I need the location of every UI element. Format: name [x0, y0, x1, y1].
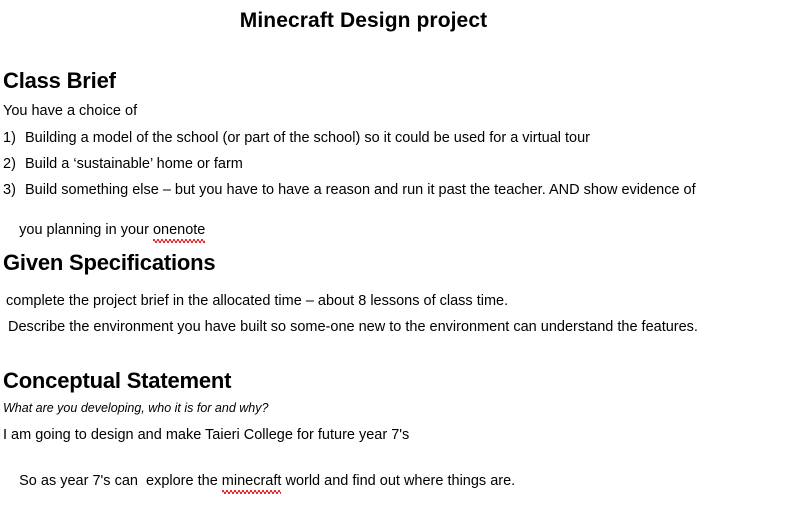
- document-title: Minecraft Design project: [0, 8, 727, 34]
- conceptual-answer-line-2: So as year 7's can explore the minecraft…: [3, 451, 515, 511]
- conceptual-answer-line-1: I am going to design and make Taieri Col…: [3, 425, 409, 445]
- list-item: 3)Build something else – but you have to…: [3, 180, 783, 200]
- conceptual-answer-line-2-prefix: So as year 7's can explore the: [19, 473, 222, 489]
- list-marker-1: 1): [3, 128, 25, 148]
- heading-class-brief: Class Brief: [3, 68, 116, 94]
- document-page: Minecraft Design project Class Brief You…: [0, 0, 796, 479]
- misspelled-word-minecraft[interactable]: minecraft: [222, 471, 282, 491]
- heading-conceptual-statement: Conceptual Statement: [3, 368, 231, 394]
- heading-given-specifications: Given Specifications: [3, 250, 215, 276]
- list-marker-2: 2): [3, 154, 25, 174]
- list-text-3-continuation: you planning in your: [19, 222, 153, 238]
- list-text-1: Building a model of the school (or part …: [25, 130, 590, 146]
- conceptual-answer-line-2-suffix: world and find out where things are.: [281, 473, 515, 489]
- misspelled-word-onenote[interactable]: onenote: [153, 220, 205, 240]
- class-brief-intro: You have a choice of: [3, 101, 137, 121]
- list-marker-3: 3): [3, 180, 25, 200]
- list-item: 1)Building a model of the school (or par…: [3, 128, 783, 148]
- specification-line-2: Describe the environment you have built …: [8, 317, 698, 337]
- list-text-2: Build a ‘sustainable’ home or farm: [25, 156, 243, 172]
- specification-line-1: complete the project brief in the alloca…: [6, 291, 508, 311]
- list-text-3: Build something else – but you have to h…: [25, 182, 696, 198]
- conceptual-statement-prompt: What are you developing, who it is for a…: [3, 400, 268, 417]
- list-item: 2)Build a ‘sustainable’ home or farm: [3, 154, 783, 174]
